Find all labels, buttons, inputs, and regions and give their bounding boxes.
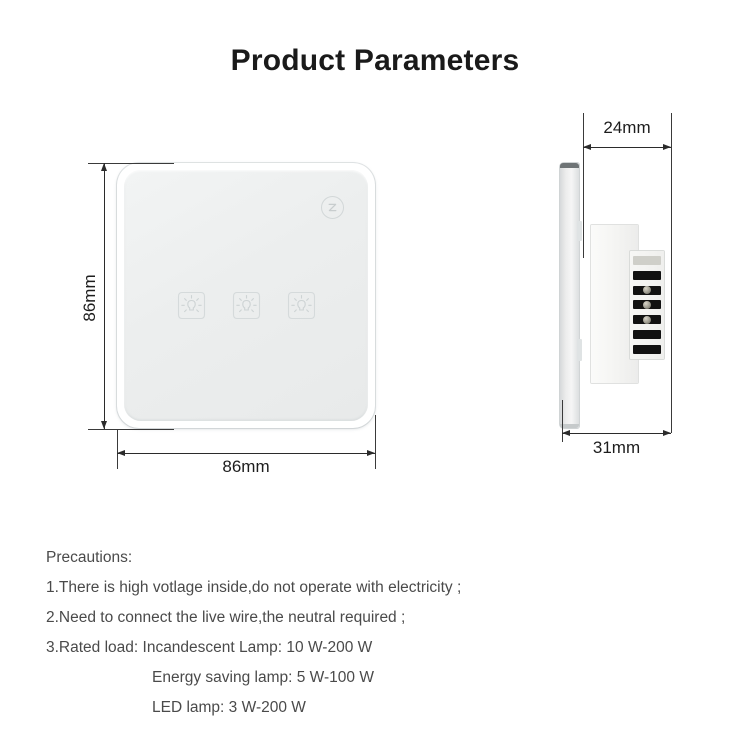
switch-glass-edge xyxy=(560,163,579,428)
front-height-witness-bottom xyxy=(88,429,174,430)
terminal-slot xyxy=(633,330,661,339)
switch-outer-frame xyxy=(117,163,375,428)
side-bottom-arrow-left xyxy=(562,430,570,436)
front-width-arrow-right xyxy=(367,450,375,456)
terminal-slot xyxy=(633,315,661,324)
side-bottom-arrow-right xyxy=(663,430,671,436)
touch-button-2[interactable] xyxy=(230,289,263,322)
side-bottom-dimension-line xyxy=(562,433,671,434)
terminal-slot xyxy=(633,300,661,309)
front-height-dimension-line xyxy=(104,163,105,429)
front-height-label: 86mm xyxy=(80,268,100,328)
front-width-dimension-line xyxy=(117,453,375,454)
page-title: Product Parameters xyxy=(0,44,750,78)
side-top-label: 24mm xyxy=(583,118,671,138)
precaution-item-2: 2.Need to connect the live wire,the neut… xyxy=(46,603,686,633)
precaution-item-4: Energy saving lamp: 5 W-100 W xyxy=(46,663,686,693)
side-view-product-image xyxy=(560,163,670,428)
precautions-section: Precautions: 1.There is high votlage ins… xyxy=(46,543,686,723)
side-depth-witness-right xyxy=(671,113,672,433)
terminal-slot xyxy=(633,286,661,295)
touch-button-row xyxy=(124,289,368,322)
side-bottom-label: 31mm xyxy=(562,438,671,458)
front-height-arrow-bottom xyxy=(101,421,107,429)
wiring-terminal-block xyxy=(630,251,664,359)
touch-button-1[interactable] xyxy=(175,289,208,322)
switch-glass-face xyxy=(124,170,368,421)
zigbee-logo-icon xyxy=(321,196,344,219)
terminal-slot xyxy=(633,256,661,265)
front-view-product-image xyxy=(117,163,375,428)
front-width-label: 86mm xyxy=(117,457,375,477)
front-width-arrow-left xyxy=(117,450,125,456)
front-width-witness-right xyxy=(375,415,376,469)
precaution-item-3: 3.Rated load: Incandescent Lamp: 10 W-20… xyxy=(46,633,686,663)
precautions-heading: Precautions: xyxy=(46,543,686,573)
mounting-clip-upper xyxy=(577,221,582,241)
side-top-arrow-left xyxy=(583,144,591,150)
front-height-arrow-top xyxy=(101,163,107,171)
switch-glass-edge-top-cap xyxy=(560,163,579,168)
terminal-slot xyxy=(633,271,661,280)
side-top-arrow-right xyxy=(663,144,671,150)
side-top-dimension-line xyxy=(583,147,671,148)
precaution-item-5: LED lamp: 3 W-200 W xyxy=(46,693,686,723)
mounting-clip-lower xyxy=(577,339,582,361)
terminal-slot xyxy=(633,345,661,354)
touch-button-3[interactable] xyxy=(285,289,318,322)
precaution-item-1: 1.There is high votlage inside,do not op… xyxy=(46,573,686,603)
